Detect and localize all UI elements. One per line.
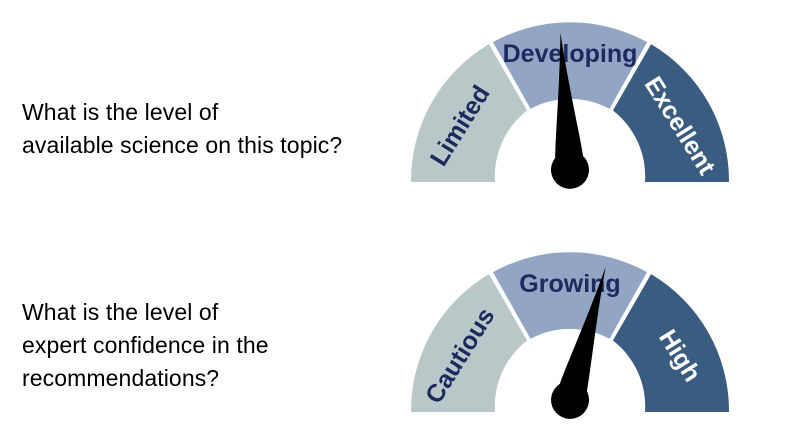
gauge-graphic-science: Limited Developing Excellent <box>400 13 740 193</box>
gauge-graphic-confidence: Cautious Growing High <box>400 243 740 423</box>
question-text-science: What is the level of available science o… <box>22 96 392 162</box>
gauge-segment-label-growing: Growing <box>519 270 620 298</box>
science-level-gauge: Limited Developing Excellent <box>400 13 740 193</box>
slide-canvas: What is the level of available science o… <box>0 0 786 429</box>
expert-confidence-gauge: Cautious Growing High <box>400 243 740 423</box>
gauge-segment-label-developing: Developing <box>503 40 638 68</box>
question-text-confidence: What is the level of expert confidence i… <box>22 296 392 395</box>
